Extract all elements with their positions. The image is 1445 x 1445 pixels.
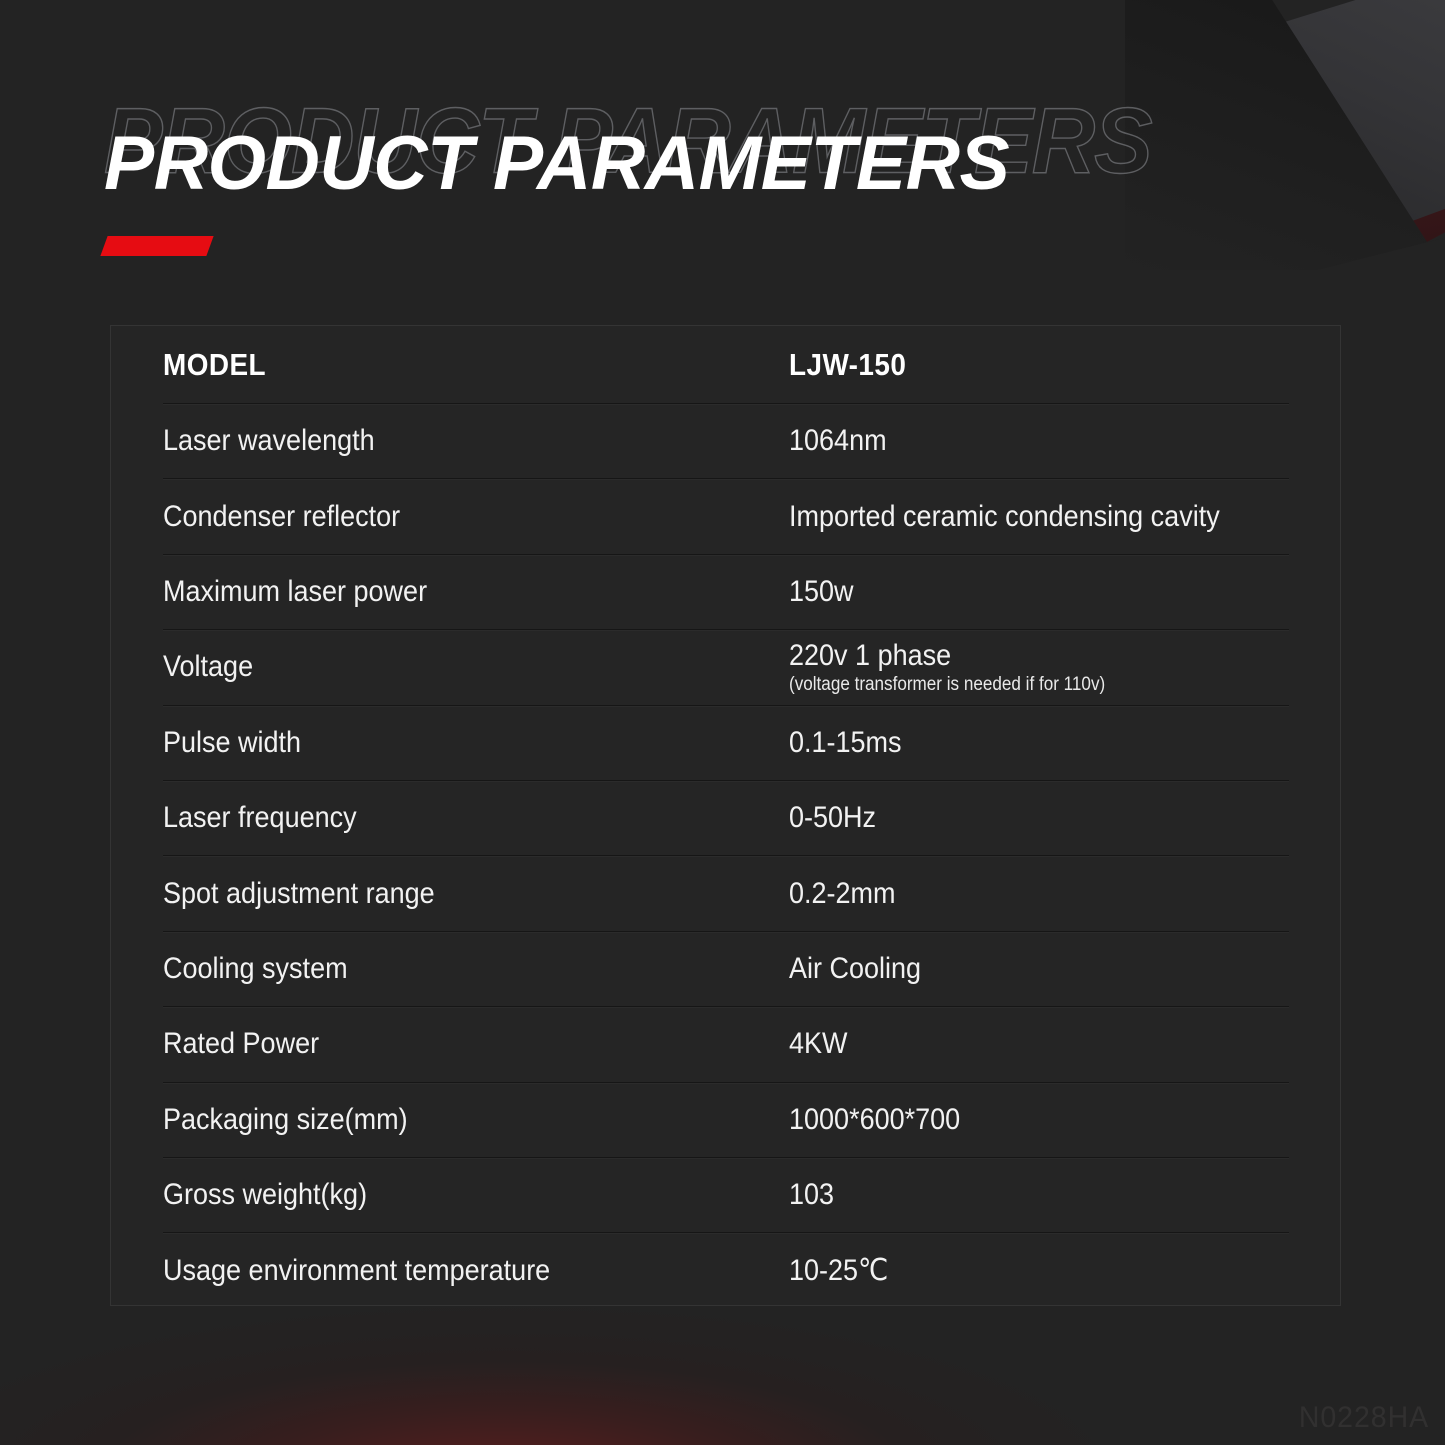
table-row: Cooling systemAir Cooling — [163, 932, 1289, 1007]
table-row: Laser wavelength1064nm — [163, 404, 1289, 479]
table-cell-label: Pulse width — [163, 726, 726, 760]
table-cell-label: Maximum laser power — [163, 575, 726, 609]
table-cell-value: 0-50Hz — [789, 801, 1239, 835]
table-cell-value-stack: 220v 1 phase(voltage transformer is need… — [789, 641, 1239, 694]
table-cell-label: Spot adjustment range — [163, 877, 726, 911]
table-cell-value: 220v 1 phase(voltage transformer is need… — [789, 641, 1239, 694]
watermark-text: N0228HA — [1299, 1401, 1429, 1435]
table-cell-label: Condenser reflector — [163, 500, 726, 534]
table-header-label: MODEL — [163, 347, 726, 383]
table-row: Rated Power4KW — [163, 1007, 1289, 1082]
table-cell-value: 0.1-15ms — [789, 726, 1239, 760]
table-cell-label: Gross weight(kg) — [163, 1178, 726, 1212]
table-row: Pulse width0.1-15ms — [163, 706, 1289, 781]
table-cell-label: Usage environment temperature — [163, 1254, 726, 1288]
table-cell-value: 1000*600*700 — [789, 1103, 1239, 1137]
corner-red-band — [1240, 0, 1445, 270]
table-cell-label: Voltage — [163, 650, 726, 684]
table-cell-label: Laser wavelength — [163, 424, 726, 458]
spec-table: MODEL LJW-150 Laser wavelength1064nmCond… — [163, 326, 1289, 1309]
table-cell-value: 10-25℃ — [789, 1253, 1239, 1288]
red-accent-bar — [100, 236, 213, 256]
table-row: Voltage220v 1 phase(voltage transformer … — [163, 630, 1289, 705]
table-row: Gross weight(kg)103 — [163, 1158, 1289, 1233]
table-row: Packaging size(mm)1000*600*700 — [163, 1083, 1289, 1158]
table-cell-value: Imported ceramic condensing cavity — [789, 500, 1239, 534]
table-cell-label: Cooling system — [163, 952, 726, 986]
table-row: Condenser reflectorImported ceramic cond… — [163, 479, 1289, 554]
table-cell-value-note: (voltage transformer is needed if for 11… — [789, 675, 1239, 694]
table-header-row: MODEL LJW-150 — [163, 326, 1289, 404]
page-title: PRODUCT PARAMETERS — [104, 120, 1009, 207]
table-cell-value: 150w — [789, 575, 1239, 609]
table-cell-value: 0.2-2mm — [789, 877, 1239, 911]
table-cell-value: 1064nm — [789, 424, 1239, 458]
table-cell-value: 4KW — [789, 1027, 1239, 1061]
table-row: Spot adjustment range0.2-2mm — [163, 856, 1289, 931]
table-cell-label: Rated Power — [163, 1027, 726, 1061]
table-row: Usage environment temperature10-25℃ — [163, 1233, 1289, 1308]
table-cell-label: Packaging size(mm) — [163, 1103, 726, 1137]
title-block: PRODUCT PARAMETERS PRODUCT PARAMETERS — [104, 96, 1204, 216]
spec-table-panel: MODEL LJW-150 Laser wavelength1064nmCond… — [110, 325, 1341, 1306]
table-cell-value-main: 220v 1 phase — [789, 641, 1239, 671]
table-row: Laser frequency0-50Hz — [163, 781, 1289, 856]
table-row: Maximum laser power150w — [163, 555, 1289, 630]
table-header-value: LJW-150 — [789, 347, 1239, 383]
table-cell-label: Laser frequency — [163, 801, 726, 835]
table-cell-value: 103 — [789, 1178, 1239, 1212]
table-cell-value: Air Cooling — [789, 952, 1239, 986]
